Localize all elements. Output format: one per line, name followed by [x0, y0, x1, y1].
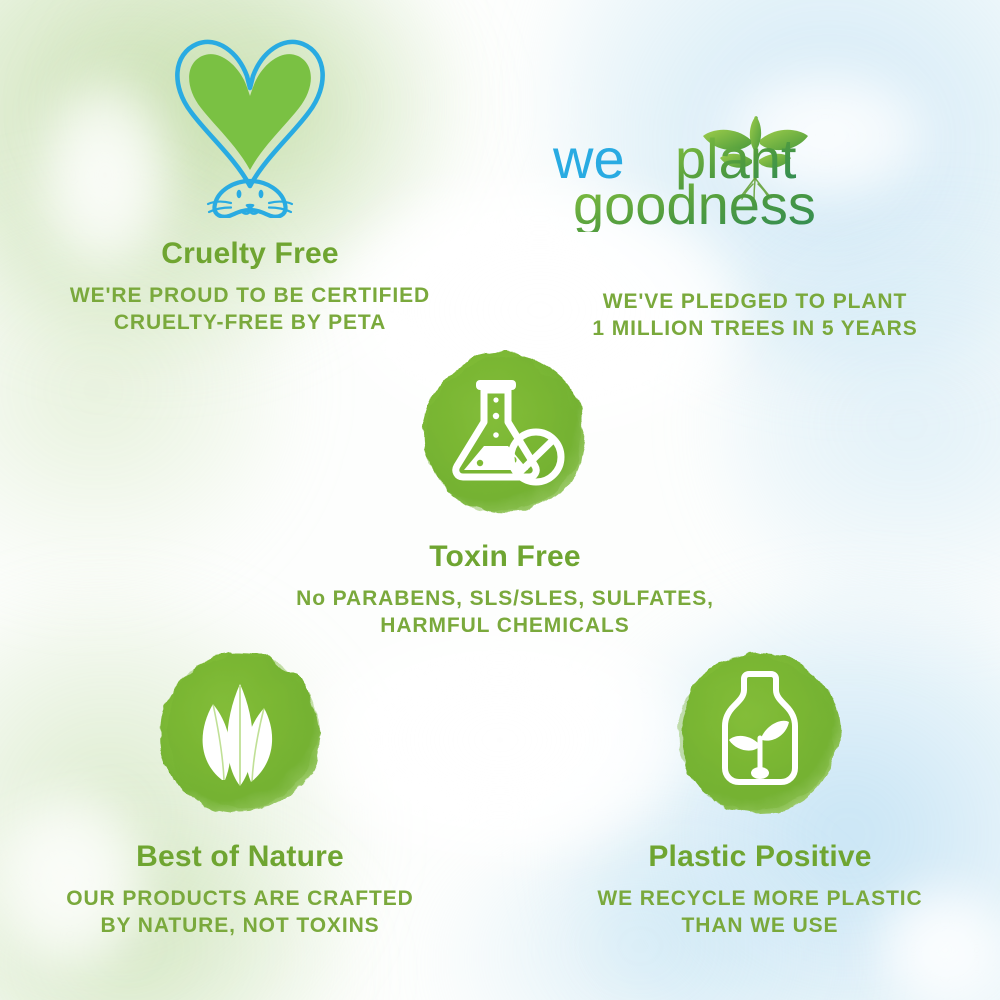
- bottle-sprout-icon: [667, 640, 853, 826]
- badge-subtext-toxin-free-line-2: HARMFUL CHEMICALS: [270, 612, 740, 639]
- logo-word-goodness: goodness: [573, 173, 816, 232]
- badge-subtext-plant-goodness-line-1: WE'VE PLEDGED TO PLANT: [525, 288, 985, 315]
- badge-subtext-cruelty-free-line-1: WE'RE PROUD TO BE CERTIFIED: [20, 282, 480, 309]
- badge-heading-toxin-free: Toxin Free: [270, 540, 740, 573]
- badge-plant-goodness: we plant goodness WE'VE PLEDGED TO PLANT…: [525, 100, 985, 343]
- badge-subtext-plastic-positive-line-2: THAN WE USE: [530, 912, 990, 939]
- badge-heading-cruelty-free: Cruelty Free: [20, 237, 480, 270]
- badge-cruelty-free: Cruelty Free WE'RE PROUD TO BE CERTIFIED…: [20, 18, 480, 337]
- badge-best-of-nature: Best of Nature OUR PRODUCTS ARE CRAFTED …: [10, 640, 470, 940]
- infographic-canvas: Cruelty Free WE'RE PROUD TO BE CERTIFIED…: [0, 0, 1000, 1000]
- we-plant-goodness-logo: we plant goodness: [525, 100, 985, 232]
- badge-plastic-positive: Plastic Positive WE RECYCLE MORE PLASTIC…: [530, 640, 990, 940]
- badge-subtext-plastic-positive-line-1: WE RECYCLE MORE PLASTIC: [530, 885, 990, 912]
- badge-subtext-best-of-nature-line-2: BY NATURE, NOT TOXINS: [10, 912, 470, 939]
- badge-toxin-free: Toxin Free No PARABENS, SLS/SLES, SULFAT…: [270, 340, 740, 640]
- badge-heading-best-of-nature: Best of Nature: [10, 840, 470, 873]
- badge-subtext-cruelty-free-line-2: CRUELTY-FREE BY PETA: [20, 309, 480, 336]
- badge-subtext-best-of-nature-line-1: OUR PRODUCTS ARE CRAFTED: [10, 885, 470, 912]
- badge-heading-plastic-positive: Plastic Positive: [530, 840, 990, 873]
- flask-no-entry-icon: [412, 340, 598, 526]
- badge-subtext-toxin-free-line-1: No PARABENS, SLS/SLES, SULFATES,: [270, 585, 740, 612]
- three-leaves-icon: [147, 640, 333, 826]
- bunny-heart-icon: [20, 18, 480, 223]
- badge-subtext-plant-goodness-line-2: 1 MILLION TREES IN 5 YEARS: [525, 315, 985, 342]
